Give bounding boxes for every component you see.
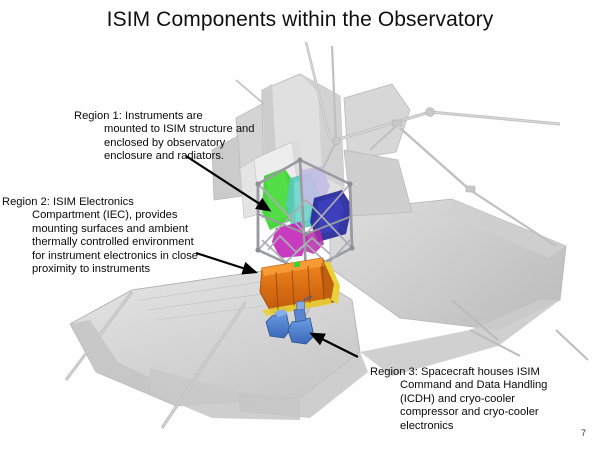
callout-region-2: Region 2: ISIM Electronics Compartment (… bbox=[2, 196, 248, 276]
page-number: 7 bbox=[581, 428, 586, 438]
presentation-slide: ISIM Components within the Observatory bbox=[0, 0, 600, 450]
callout-region-3: Region 3: Spacecraft houses ISIM Command… bbox=[370, 366, 600, 433]
callout-region-1: Region 1: Instruments are mounted to ISI… bbox=[74, 110, 310, 164]
